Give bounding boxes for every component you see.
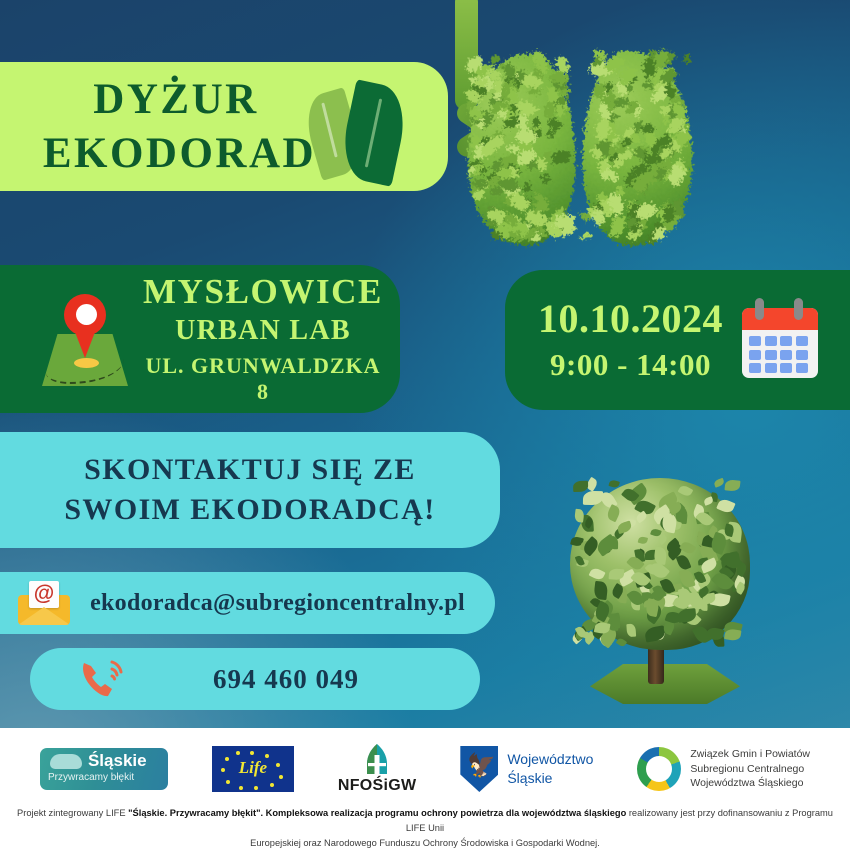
leaf-cluster [605,505,621,523]
leaf-cluster [598,124,609,134]
leaf-cluster [594,83,605,98]
leaf-cluster [475,119,486,130]
leaf-cluster [713,478,725,488]
leaf-cluster [640,57,659,79]
leaf-cluster [645,550,659,560]
leaf-cluster [497,105,515,122]
leaf-cluster [546,87,558,103]
leaf-cluster [625,75,638,86]
leaf-cluster [620,66,636,86]
leaf-cluster [634,145,648,159]
leaf-cluster [591,56,603,68]
leaf-cluster [487,130,508,151]
leaf-cluster [473,106,494,127]
leaf-cluster [692,504,706,521]
leaf-cluster [670,159,689,180]
leaf-cluster [645,49,668,70]
leaf-cluster [626,624,636,637]
leaf-cluster [677,111,685,122]
leaf-cluster [493,90,502,101]
leaf-cluster [670,583,682,592]
leaf-cluster [515,147,535,166]
leaf-cluster [664,538,681,554]
leaf-cluster [597,160,615,181]
green-leaf-lungs-image [455,0,705,264]
leaf-cluster [554,214,575,231]
leaf-cluster [636,168,659,190]
leaf-cluster [695,573,713,590]
envelope-at-icon: @ [18,581,70,625]
tree-canopy [570,478,750,650]
leaf-cluster [497,109,508,120]
leaf-cluster [627,222,643,241]
leaf-cluster [580,212,590,220]
leaf-cluster [615,141,627,154]
leaf-cluster [594,202,608,213]
leaf-cluster [576,557,589,568]
leaf-cluster [707,525,719,538]
leaf-cluster [609,536,619,549]
leaf-cluster [727,551,739,560]
lungs-trachea [455,0,478,110]
leaf-cluster [647,138,662,155]
leaf-cluster [552,150,570,163]
leaf-cluster [467,157,488,178]
leaf-pair-icon [306,80,418,180]
leaf-cluster [692,623,712,645]
leaf-cluster [597,106,615,122]
leaf-cluster [678,588,693,607]
leaf-cluster [695,511,711,524]
leaf-cluster [656,492,680,514]
leaf-cluster [479,75,495,91]
leaf-cluster [653,547,667,565]
slaskie-logo-subtitle: Przywracamy błękit [48,772,134,783]
leaf-cluster [668,501,684,515]
leaf-cluster [661,513,678,534]
leaf-cluster [612,527,625,540]
leaf-cluster [593,606,607,619]
leaf-cluster [727,522,743,543]
leaf-cluster [464,87,482,106]
leaf-cluster [486,220,495,227]
leaf-cluster [650,527,662,537]
leaf-cluster [604,612,621,626]
leaf-cluster [514,125,538,147]
leaf-cluster [497,172,520,196]
leaf-cluster [465,98,478,112]
leaf-cluster [570,630,585,644]
nfosigw-logo: NFOŚiGW [338,743,417,795]
leaf-cluster [614,79,631,96]
leaf-cluster [549,68,570,88]
leaf-cluster [621,487,639,504]
leaf-cluster [532,192,546,206]
leaf-cluster [554,68,569,83]
leaf-cluster [661,204,677,223]
zgp-logo-line-2: Subregionu Centralnego [690,762,810,777]
leaf-cluster [662,103,673,114]
leaf-cluster [593,143,609,160]
zgp-circle-icon [637,747,681,791]
leaf-cluster [654,80,671,95]
leaf-cluster [719,565,735,581]
leaf-cluster [646,62,665,82]
leaf-cluster [656,85,669,101]
leaf-cluster [641,79,654,92]
leaf-cluster [682,608,703,628]
map-pin-base [74,358,99,368]
leaf-cluster [518,222,531,232]
leaf-cluster [643,599,654,607]
leaf-cluster [588,567,605,583]
leaf-cluster [678,614,688,625]
leaf-cluster [683,53,691,63]
eagle-icon: 🦅 [467,753,491,779]
leaf-cluster [522,181,533,193]
leaf-cluster [608,111,619,124]
location-city: MYSŁOWICE [142,273,384,310]
leaf-cluster [659,211,680,235]
leaf-cluster [665,610,682,625]
leaf-cluster [471,112,490,132]
leaf-cluster [483,180,494,189]
leaf-cluster [626,483,650,506]
leaf-cluster [468,75,479,87]
leaf-cluster [694,570,707,585]
leaf-cluster [531,49,547,68]
leaf-cluster [514,98,537,120]
leaf-cluster [626,588,645,608]
phone-number[interactable]: 694 460 049 [132,664,480,695]
leaf-cluster [617,146,634,163]
leaf-cluster [599,490,618,511]
phone-ringing-icon [76,656,132,702]
leaf-cluster [546,116,562,132]
leaf-cluster [649,229,660,244]
leaf-cluster [630,222,642,234]
leaf-cluster [607,93,619,105]
leaf-cluster [655,206,678,227]
leaf-cluster [661,618,676,635]
leaf-cluster [527,161,539,170]
leaf-cluster [531,117,542,128]
leaf-cluster [491,225,510,239]
leaf-cluster [477,72,494,91]
leaf-cluster [616,520,633,534]
leaf-cluster [670,200,688,220]
leaf-cluster [544,218,563,240]
date-card: 10.10.2024 9:00 - 14:00 [505,270,850,410]
leaf-cluster [641,122,656,135]
leaf-cluster [550,73,567,92]
leaf-cluster [592,600,612,622]
leaf-cluster [587,207,603,219]
leaf-cluster [657,136,680,159]
email-card[interactable]: @ ekodoradca@subregioncentralny.pl [0,572,495,634]
leaf-cluster [532,215,544,229]
leaf-cluster [514,69,530,85]
leaf-cluster [580,540,595,552]
leaf-cluster [676,554,692,572]
leaf-cluster [625,133,641,146]
leaf-cluster [608,569,624,581]
leaf-cluster [506,162,521,178]
at-symbol-icon: @ [29,581,59,608]
fine-print-bold: "Śląskie. Przywracamy błękit". Komplekso… [128,808,626,818]
leaf-cluster [652,157,676,179]
leaf-cluster [643,602,664,624]
leaf-cluster [574,625,587,639]
leaf-cluster [734,581,747,595]
leaf-cluster [589,146,604,160]
leaf-cluster [698,535,708,548]
leaf-cluster [624,126,635,139]
leaf-cluster [593,86,606,99]
leaf-cluster [490,100,511,117]
leaf-cluster [672,118,685,133]
leaf-cluster [600,122,619,144]
leaf-cluster [537,158,547,171]
leaf-cluster [669,101,688,120]
leaf-cluster [602,142,623,163]
zwiazek-gmin-i-powiatow-logo: Związek Gmin i Powiatów Subregionu Centr… [637,747,810,792]
leaf-cluster [632,120,643,134]
leaf-cluster [634,510,648,523]
leaf-cluster [489,55,501,65]
leaf-cluster [581,536,602,557]
leaf-cluster [637,536,648,545]
leaf-cluster [494,213,506,226]
date-text: 10.10.2024 9:00 - 14:00 [505,298,738,383]
leaf-cluster [529,127,544,141]
lungs-bronchus-right [453,119,501,160]
leaf-cluster [477,73,495,90]
leaf-cluster [509,190,531,214]
leaf-cluster [573,626,589,641]
leaf-cluster [647,592,670,616]
leaf-cluster [720,549,743,571]
leaf-cluster [706,626,725,641]
leaf-cluster [516,196,532,209]
leaf-cluster [492,157,514,176]
leaf-cluster [699,542,720,566]
leaf-cluster [651,504,673,525]
leaf-cluster [659,103,677,119]
leaf-cluster [732,575,747,592]
leaf-cluster [527,85,541,98]
leaf-cluster [667,116,683,135]
leaf-cluster [660,508,676,528]
leaf-cluster [703,548,713,557]
leaf-cluster [653,221,667,234]
leaf-cluster [585,477,599,492]
leaf-cluster [556,207,569,223]
leaf-cluster [581,514,594,532]
leaf-cluster [701,593,716,605]
leaf-cluster [530,120,543,135]
leaf-cluster [531,123,542,132]
leaf-cluster [668,94,690,117]
leaf-cluster [530,230,541,242]
leaf-cluster [498,61,511,74]
leaf-cluster [542,100,559,119]
leaf-cluster [612,94,630,110]
leaf-cluster [546,130,556,137]
leaf-cluster [652,90,663,103]
leaf-cluster [625,202,644,224]
leaf-cluster [630,568,651,589]
leaf-cluster [598,625,620,649]
leaf-cluster [476,64,495,78]
leaf-cluster [592,143,608,159]
leaf-cluster [645,562,660,577]
leaf-cluster [666,172,682,187]
leaf-cluster [552,98,570,116]
leaf-cluster [492,78,504,92]
calendar-icon [738,298,822,382]
leaf-cluster [515,114,529,130]
leaf-cluster [660,69,676,84]
leaf-cluster [591,611,609,628]
slaskie-przywracamy-blekit-logo: Śląskie Przywracamy błękit [40,748,168,790]
leaf-cluster [604,192,628,217]
leaf-cluster [677,608,696,622]
leaf-cluster [517,70,526,82]
leaf-cluster [487,205,505,227]
leaf-cluster [606,170,620,182]
leaf-cluster [720,552,741,569]
leaf-cluster [508,166,519,178]
fine-print-line-2: Europejskiej oraz Narodowego Funduszu Oc… [14,836,836,850]
leaf-cluster [602,131,620,151]
leaf-cluster [504,73,523,92]
leaf-cluster [472,142,490,160]
leaf-cluster [470,134,484,152]
leaf-cluster [620,136,634,150]
leaf-cluster [659,67,678,87]
leaf-cluster [675,506,689,524]
leaf-cluster [617,76,636,93]
leaf-cluster [690,574,707,591]
leaf-cluster [524,229,540,240]
leaf-cluster [678,590,698,611]
leaf-cluster [487,90,507,107]
leaf-cluster [573,481,588,492]
leaf-cluster [688,590,705,611]
leaf-cluster [662,83,679,100]
leaf-cluster [499,79,517,94]
leaf-cluster [709,589,722,603]
leaf-cluster [590,621,607,640]
leaf-cluster [659,113,671,124]
leaf-cluster [679,540,696,556]
leaf-cluster [555,96,568,106]
leaf-cluster [595,121,614,139]
leaf-cluster [623,199,646,219]
location-card: MYSŁOWICE URBAN LAB UL. GRUNWALDZKA 8 [0,265,400,413]
leaf-cluster [653,583,668,599]
leaf-cluster [668,583,685,597]
leaf-cluster [595,621,611,634]
leaf-cluster [685,606,698,616]
location-place: URBAN LAB [142,313,384,349]
leaf-cluster [648,559,670,581]
leaf-cluster [638,149,652,163]
phone-card[interactable]: 694 460 049 [30,648,480,710]
leaf-cluster [723,524,734,538]
lungs-bronchus-left [453,99,501,140]
leaf-cluster [653,50,668,70]
date-hours: 9:00 - 14:00 [523,347,738,383]
leaf-cluster [650,589,664,603]
leaf-cluster [533,64,549,78]
email-address[interactable]: ekodoradca@subregioncentralny.pl [70,590,495,617]
leaf-cluster [598,159,609,173]
leaf-cluster [486,170,501,184]
leaf-cluster [658,50,675,68]
leaf-cluster [652,226,667,242]
leaf-cluster [633,146,649,160]
leaf-cluster [516,132,535,155]
leaf-cluster [487,206,508,225]
leaf-cluster [717,526,733,541]
leaf-cluster [485,66,501,83]
leaf-cluster [634,548,646,563]
leaf-cluster [662,66,676,78]
leaf-cluster [701,534,721,550]
location-street: UL. GRUNWALDZKA 8 [142,353,384,405]
leaf-cluster [583,631,597,645]
leaf-cluster [632,182,647,193]
life-eu-logo: Life [212,746,294,792]
leaf-cluster [697,586,711,599]
leaf-cluster [468,77,492,100]
leaf-cluster [700,557,719,573]
nfosigw-logo-word: NFOŚiGW [338,777,417,795]
fine-print: Projekt zintegrowany LIFE "Śląskie. Przy… [0,804,850,850]
wojewodztwo-logo-line-2: Śląskie [507,769,593,788]
leaf-cluster [672,122,687,134]
leaf-cluster [595,533,619,556]
leaf-cluster [589,61,611,78]
leaf-cluster [494,218,515,241]
leaf-cluster [658,512,677,530]
leaf-cluster [593,49,608,62]
calendar-ring-left [755,298,764,320]
leaf-cluster [704,497,715,506]
calendar-grid [749,336,811,373]
leaf-cluster [610,216,625,236]
leaf-cluster [600,542,612,555]
wojewodztwo-logo-line-1: Województwo [507,750,593,769]
leaf-cluster [624,172,637,188]
leaf-cluster [627,101,644,118]
leaf-cluster [718,561,740,584]
footer-bar: Śląskie Przywracamy błękit [0,728,850,850]
life-logo-word: Life [212,758,294,778]
leaf-cluster [598,91,618,114]
calendar-header [742,308,818,330]
leaf-cluster [617,568,637,586]
leaf-cluster [511,215,522,228]
leaf-cluster [669,127,693,151]
leaf-cluster [575,629,586,640]
leaf-cluster [611,201,625,216]
leaf-cluster [696,531,708,546]
leaf-cluster [506,168,518,178]
leaf-cluster [507,87,520,103]
